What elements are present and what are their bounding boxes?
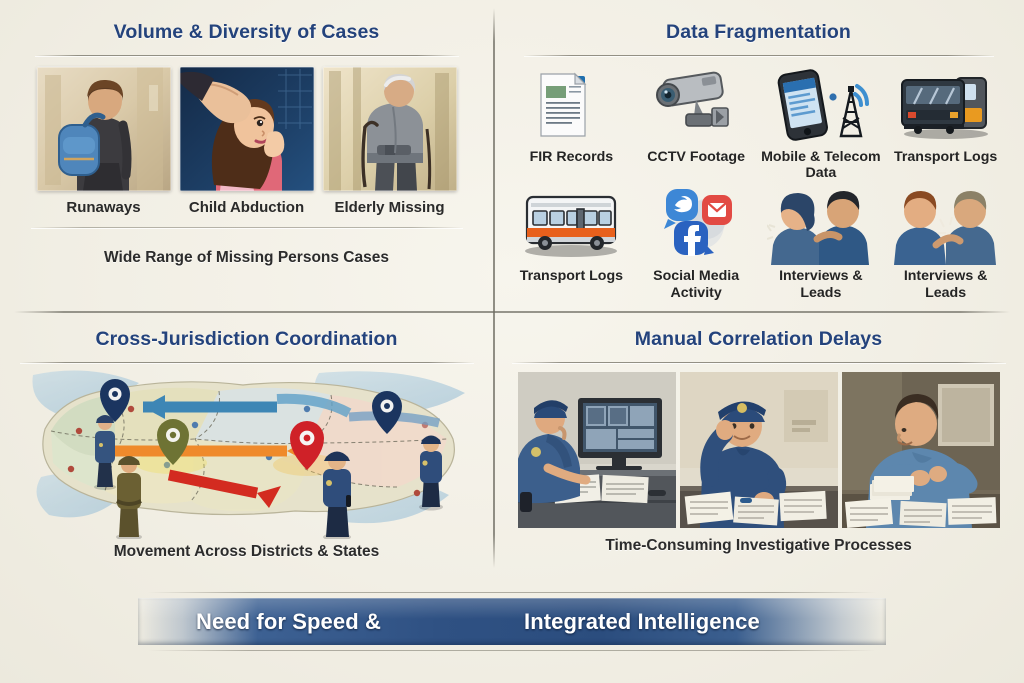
elderly-missing-image [323,67,457,191]
document-records-icon [517,64,625,146]
data-source-label: Social Media Activity [634,268,759,300]
infographic-poster: Volume & Diversity of Cases [0,0,1024,683]
case-type-card[interactable]: Child Abduction [180,67,314,216]
data-source-item[interactable]: Social Media Activity [634,183,759,300]
case-type-label: Runaways [37,199,171,216]
data-source-label: Mobile & Telecom Data [759,149,884,181]
title-rule [20,362,474,363]
child-abduction-image [180,67,314,191]
case-type-label: Child Abduction [180,199,314,216]
case-type-card[interactable]: Runaways [37,67,171,216]
case-type-card[interactable]: Elderly Missing [323,67,457,216]
quadrant-manual-correlation: Manual Correlation Delays [493,311,1024,563]
quadrant-volume-diversity: Volume & Diversity of Cases [0,0,493,311]
data-source-item[interactable]: CCTV Footage [634,64,759,181]
runaway-teen-image [37,67,171,191]
investigator-documents-scene[interactable] [842,372,1000,528]
officer-monitor-scene[interactable] [518,372,676,528]
quadrant-caption-manual-correlation: Time-Consuming Investigative Processes [493,537,1024,555]
bus-side-icon [517,183,625,265]
jurisdiction-map[interactable] [19,369,474,539]
investigation-scene-row [493,372,1024,528]
data-source-item[interactable]: FIR Records [509,64,634,181]
data-source-label: Transport Logs [894,149,997,165]
banner-text-right: Integrated Intelligence [524,598,760,645]
bus-rear-icon [892,64,1000,146]
banner-text-left: Need for Speed & [196,598,381,645]
data-source-item[interactable]: Transport Logs [883,64,1008,181]
case-type-card-row: Runaways [0,67,493,216]
data-source-grid: FIR Records [493,56,1024,301]
quadrant-caption-cross-jurisdiction: Movement Across Districts & States [0,543,493,561]
data-source-item[interactable]: Mobile & Telecom Data [759,64,884,181]
case-type-label: Elderly Missing [323,199,457,216]
data-source-label: Interviews & Leads [759,268,884,300]
data-source-item[interactable]: Interviews & Leads [759,183,884,300]
data-source-label: Interviews & Leads [883,268,1008,300]
smartphone-cell-tower-icon [767,64,875,146]
cctv-camera-icon [642,64,750,146]
title-rule [35,55,459,56]
quadrant-title-cross-jurisdiction: Cross-Jurisdiction Coordination [0,311,493,351]
quadrant-caption-volume-diversity: Wide Range of Missing Persons Cases [0,249,493,267]
banner-hairline-bottom [148,650,876,651]
quadrant-cross-jurisdiction: Cross-Jurisdiction Coordination [0,311,493,563]
data-source-label: Transport Logs [520,268,623,284]
data-source-item[interactable]: Transport Logs [509,183,634,300]
section-rule [31,227,463,228]
footer-banner: Need for Speed & Integrated Intelligence [0,575,1024,683]
two-men-talking-icon [892,183,1000,265]
quadrant-title-manual-correlation: Manual Correlation Delays [493,311,1024,351]
data-source-label: CCTV Footage [647,149,745,165]
two-people-talking-icon [767,183,875,265]
social-media-bubbles-icon [642,183,750,265]
data-source-item[interactable]: Interviews & Leads [883,183,1008,300]
data-source-label: FIR Records [530,149,614,165]
quadrant-title-volume-diversity: Volume & Diversity of Cases [0,0,493,44]
officer-phone-scene[interactable] [680,372,838,528]
title-rule [512,362,1006,363]
quadrant-data-fragmentation: Data Fragmentation [493,0,1024,311]
banner-hairline-top [148,592,876,593]
quadrant-title-data-fragmentation: Data Fragmentation [493,0,1024,44]
